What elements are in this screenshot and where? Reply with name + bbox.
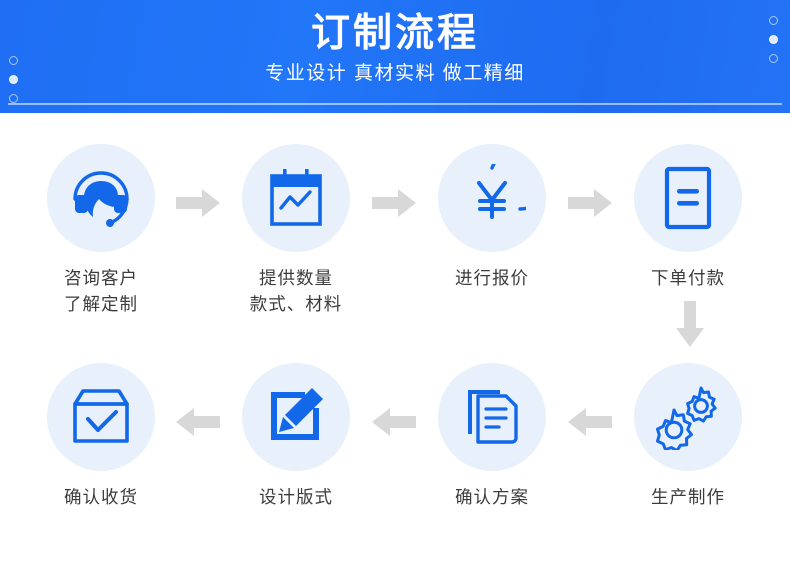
- flow-step-place-order-payment: 下单付款: [608, 144, 768, 291]
- flow-step-label: 设计版式: [259, 484, 333, 510]
- clipboard-chart-icon: [264, 164, 328, 232]
- flow-step-design-layout: 设计版式: [216, 363, 376, 510]
- step-icon-circle: [242, 144, 350, 252]
- gears-icon: [653, 384, 723, 450]
- flow-step-label: 确认方案: [455, 484, 529, 510]
- flow-arrow-left: [568, 407, 612, 437]
- flow-arrow-right: [568, 188, 612, 218]
- flow-step-consult-customer: 咨询客户 了解定制: [21, 144, 181, 317]
- page-subtitle: 专业设计 真材实料 做工精细: [265, 61, 525, 87]
- header-text-block: 订制流程 专业设计 真材实料 做工精细: [0, 0, 790, 113]
- flow-step-label: 确认收货: [64, 484, 138, 510]
- decorative-dot-icon: [9, 94, 18, 103]
- flow-step-provide-quote: 进行报价: [412, 144, 572, 291]
- process-flow-diagram: 咨询客户 了解定制 提供数量 款式、材料: [0, 113, 790, 565]
- step-icon-circle: [634, 144, 742, 252]
- flow-arrow-right: [372, 188, 416, 218]
- step-icon-circle: [438, 144, 546, 252]
- decorative-dot-icon: [769, 54, 778, 63]
- flow-step-label: 下单付款: [651, 265, 725, 291]
- step-icon-circle: [47, 363, 155, 471]
- step-icon-circle: [242, 363, 350, 471]
- stacked-documents-icon: [458, 384, 526, 450]
- decorative-dot-icon: [769, 16, 778, 25]
- flow-step-confirm-receipt: 确认收货: [21, 363, 181, 510]
- flow-step-confirm-plan: 确认方案: [412, 363, 572, 510]
- step-icon-circle: [438, 363, 546, 471]
- flow-arrow-left: [372, 407, 416, 437]
- header-right-dot-group: [769, 16, 778, 73]
- customization-process-infographic: 订制流程 专业设计 真材实料 做工精细: [0, 0, 790, 565]
- flow-arrow-right: [176, 188, 220, 218]
- header-divider-line: [8, 103, 782, 105]
- step-icon-circle: [634, 363, 742, 471]
- flow-step-label: 生产制作: [651, 484, 725, 510]
- flow-arrow-left: [176, 407, 220, 437]
- flow-step-label: 咨询客户 了解定制: [64, 265, 138, 317]
- pencil-edit-square-icon: [263, 384, 329, 450]
- flow-step-label: 提供数量 款式、材料: [250, 265, 343, 317]
- page-title: 订制流程: [311, 10, 479, 58]
- yuan-currency-circle-icon: [458, 164, 526, 232]
- header-left-dot-group: [9, 56, 18, 113]
- decorative-dot-icon: [9, 56, 18, 65]
- decorative-dot-icon: [769, 35, 778, 44]
- flow-step-provide-quantity: 提供数量 款式、材料: [216, 144, 376, 317]
- flow-arrow-down: [675, 301, 705, 347]
- box-check-icon: [67, 386, 135, 448]
- headset-support-icon: [66, 163, 136, 233]
- flow-step-production: 生产制作: [608, 363, 768, 510]
- decorative-dot-icon: [9, 75, 18, 84]
- order-document-icon: [659, 164, 717, 232]
- header-banner: 订制流程 专业设计 真材实料 做工精细: [0, 0, 790, 113]
- flow-step-label: 进行报价: [455, 265, 529, 291]
- step-icon-circle: [47, 144, 155, 252]
